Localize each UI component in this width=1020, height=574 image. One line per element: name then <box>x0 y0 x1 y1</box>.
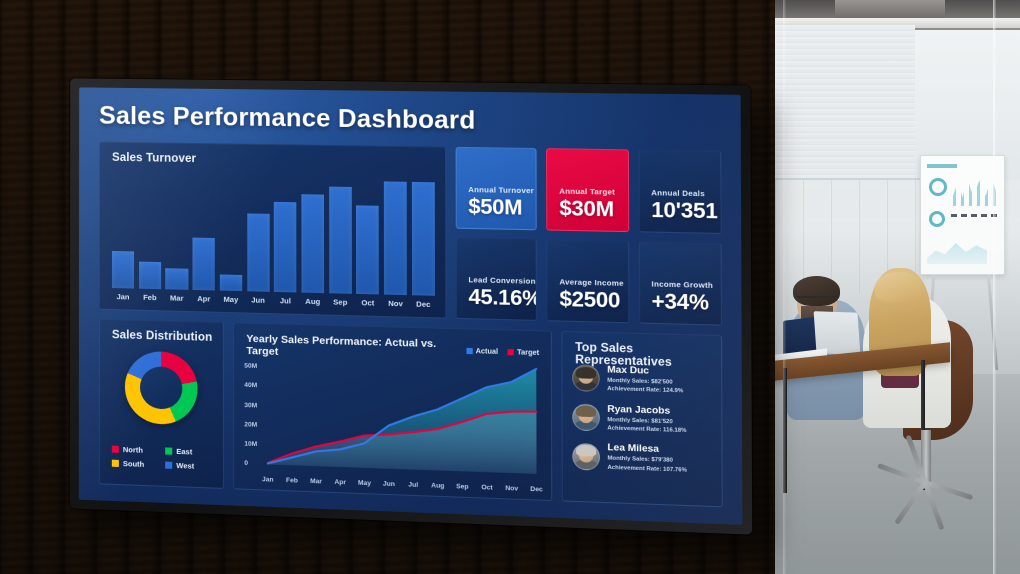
y-axis-tick-label: 10M <box>244 441 257 449</box>
x-axis-tick-label: Mar <box>310 478 322 486</box>
bar-column: Apr <box>193 178 215 303</box>
bar-column: Nov <box>384 181 407 308</box>
kpi-value: +34% <box>652 291 721 315</box>
bar-label: Nov <box>388 299 403 309</box>
kpi-value: $50M <box>468 196 536 219</box>
bar-label: Jun <box>251 295 265 304</box>
representatives-list: Max DucMonthly Sales: $82'500Achievement… <box>572 363 713 475</box>
wall-mounted-tv: Sales Performance Dashboard Sales Turnov… <box>70 78 752 534</box>
x-axis-tick-label: Feb <box>286 477 298 485</box>
line-chart-legend: ActualTarget <box>466 347 539 356</box>
kpi-value: 10'351 <box>651 199 720 222</box>
avatar-hair <box>576 444 596 456</box>
x-axis-tick-label: Dec <box>530 486 543 494</box>
legend-label: Actual <box>476 348 499 356</box>
donut-legend-item[interactable]: North <box>112 445 161 456</box>
avatar <box>572 442 600 470</box>
bar-column: Feb <box>139 177 161 302</box>
bar-label: Jul <box>280 296 291 305</box>
line-legend-item[interactable]: Target <box>508 348 540 356</box>
bar-column: Oct <box>356 181 379 308</box>
top-row: Sales Turnover JanFebMarAprMayJunJulAugS… <box>99 142 722 326</box>
avatar <box>572 365 600 393</box>
bar-column: Sep <box>329 180 352 307</box>
kpi-value: $30M <box>559 197 628 220</box>
bar <box>220 274 242 291</box>
sales-distribution-title: Sales Distribution <box>100 320 223 344</box>
kpi-card-average-income[interactable]: Average Income$2500 <box>547 239 630 323</box>
bar-label: Feb <box>143 293 156 302</box>
bar <box>247 214 270 292</box>
kpi-grid: Annual Turnover$50MAnnual Target$30MAnnu… <box>456 147 722 326</box>
bar <box>384 181 407 295</box>
x-axis-tick-label: Sep <box>456 483 469 491</box>
window-blinds <box>775 25 915 180</box>
avatar-hair <box>576 366 596 378</box>
list-item[interactable]: Ryan JacobsMonthly Sales: $81'520Achieve… <box>572 402 713 436</box>
legend-swatch-icon <box>508 349 514 355</box>
bar <box>356 206 379 295</box>
line-chart-svg <box>242 352 542 494</box>
bar <box>274 202 297 293</box>
page-title: Sales Performance Dashboard <box>99 102 721 140</box>
legend-label: West <box>176 461 194 471</box>
tv-screen: Sales Performance Dashboard Sales Turnov… <box>79 87 743 524</box>
kpi-label: Average Income <box>559 277 628 288</box>
flipchart-donut-icon <box>929 178 947 196</box>
x-axis-tick-label: Oct <box>481 484 492 492</box>
bar-label: Aug <box>305 297 320 307</box>
bar <box>112 251 134 289</box>
sales-turnover-title: Sales Turnover <box>100 143 445 170</box>
sales-turnover-panel: Sales Turnover JanFebMarAprMayJunJulAugS… <box>99 142 447 319</box>
bar-label: Oct <box>361 298 374 307</box>
y-axis-tick-label: 50M <box>244 363 257 370</box>
line-chart-plot: 010M20M30M40M50MJanFebMarAprMayJunJulAug… <box>242 352 542 494</box>
legend-label: North <box>123 445 143 455</box>
sales-dashboard: Sales Performance Dashboard Sales Turnov… <box>79 87 743 524</box>
legend-swatch-icon <box>112 460 119 467</box>
bar-column: Jan <box>112 177 134 302</box>
kpi-value: 45.16% <box>468 286 536 309</box>
bar-label: May <box>223 295 238 304</box>
kpi-card-lead-conversion[interactable]: Lead Conversion45.16% <box>456 237 538 321</box>
avatar-hair <box>576 405 596 417</box>
kpi-label: Annual Deals <box>651 187 720 198</box>
kpi-card-annual-deals[interactable]: Annual Deals10'351 <box>638 149 721 233</box>
bar-label: Dec <box>416 299 430 309</box>
kpi-label: Lead Conversion <box>468 275 536 286</box>
y-axis-tick-label: 30M <box>244 402 257 410</box>
flipchart-area-chart-icon <box>927 234 987 264</box>
kpi-label: Annual Turnover <box>468 184 536 194</box>
bar <box>193 237 215 290</box>
bar-label: Mar <box>170 293 183 302</box>
bar-column: Mar <box>166 178 188 303</box>
kpi-card-income-growth[interactable]: Income Growth+34% <box>638 241 722 326</box>
scene-root: Sales Performance Dashboard Sales Turnov… <box>0 0 1020 574</box>
ceiling-duct-icon <box>835 0 945 20</box>
x-axis-tick-label: Aug <box>431 482 444 490</box>
donut-legend-item[interactable]: East <box>165 446 215 457</box>
representative-info: Ryan JacobsMonthly Sales: $81'520Achieve… <box>607 403 686 435</box>
legend-label: East <box>176 447 192 457</box>
x-axis-tick-label: Jul <box>408 481 418 489</box>
representative-info: Max DucMonthly Sales: $82'500Achievement… <box>607 364 683 396</box>
list-item[interactable]: Lea MilesaMonthly Sales: $79'380Achievem… <box>572 441 713 476</box>
donut-legend-item[interactable]: South <box>112 459 161 470</box>
kpi-card-annual-target[interactable]: Annual Target$30M <box>546 148 628 231</box>
legend-label: South <box>123 459 144 469</box>
y-axis-tick-label: 40M <box>244 382 257 389</box>
x-axis-tick-label: Jan <box>262 476 273 484</box>
sales-turnover-bar-chart: JanFebMarAprMayJunJulAugSepOctNovDec <box>112 177 435 309</box>
sales-distribution-donut-chart <box>125 351 198 426</box>
office-interior-photo <box>775 0 1020 574</box>
x-axis-tick-label: Nov <box>505 485 518 493</box>
glasses-icon <box>797 296 837 305</box>
sales-distribution-panel: Sales Distribution NorthEastSouthWest <box>99 319 224 489</box>
kpi-label: Income Growth <box>651 279 720 290</box>
bar <box>301 194 324 293</box>
kpi-label: Annual Target <box>559 186 627 196</box>
actual-area <box>268 361 537 474</box>
legend-label: Target <box>517 349 539 357</box>
bar-label: Apr <box>197 294 210 303</box>
x-axis-tick-label: Jun <box>383 480 395 488</box>
line-legend-item[interactable]: Actual <box>466 347 498 355</box>
representative-achievement-rate: Achievement Rate: 124.9% <box>607 385 683 396</box>
woman-hair-front <box>875 272 923 302</box>
list-item[interactable]: Max DucMonthly Sales: $82'500Achievement… <box>572 363 713 397</box>
bar-column: Dec <box>412 182 435 309</box>
representative-achievement-rate: Achievement Rate: 116.18% <box>607 424 686 435</box>
bar <box>329 186 352 294</box>
bar-column: May <box>220 179 243 305</box>
yearly-performance-panel: Yearly Sales Performance: Actual vs. Tar… <box>233 322 552 501</box>
kpi-card-annual-turnover[interactable]: Annual Turnover$50M <box>456 147 537 230</box>
bar <box>139 261 161 289</box>
y-axis-tick-label: 0 <box>244 460 248 467</box>
representative-achievement-rate: Achievement Rate: 107.76% <box>607 463 686 474</box>
tv-bezel: Sales Performance Dashboard Sales Turnov… <box>70 78 752 534</box>
donut-legend: NorthEastSouthWest <box>112 445 215 472</box>
bar-column: Jun <box>247 179 270 305</box>
donut-legend-item[interactable]: West <box>165 461 215 472</box>
x-axis-tick-label: Apr <box>334 479 346 487</box>
x-axis-tick-label: May <box>358 480 371 488</box>
donut-chart-wrap <box>100 350 223 426</box>
bar-column: Jul <box>274 180 297 306</box>
bar <box>166 268 188 290</box>
legend-swatch-icon <box>112 446 119 453</box>
top-representatives-panel: Top Sales Representatives Max DucMonthly… <box>561 331 722 508</box>
y-axis-tick-label: 20M <box>244 421 257 429</box>
avatar <box>572 403 600 431</box>
kpi-value: $2500 <box>559 289 628 312</box>
bottom-row: Sales Distribution NorthEastSouthWest Ye… <box>99 319 723 508</box>
flipchart-title-bar <box>927 164 957 168</box>
bar-column: Aug <box>301 180 324 306</box>
legend-swatch-icon <box>466 348 472 354</box>
glass-seam <box>783 0 786 574</box>
bar-label: Sep <box>333 297 347 307</box>
bar <box>412 182 435 296</box>
legend-swatch-icon <box>165 462 172 469</box>
legend-swatch-icon <box>165 447 172 454</box>
flipchart-donut2-icon <box>929 211 945 227</box>
glass-seam <box>993 0 996 574</box>
bar-label: Jan <box>117 292 130 301</box>
chair-base <box>873 478 983 488</box>
representative-info: Lea MilesaMonthly Sales: $79'380Achievem… <box>607 442 687 475</box>
